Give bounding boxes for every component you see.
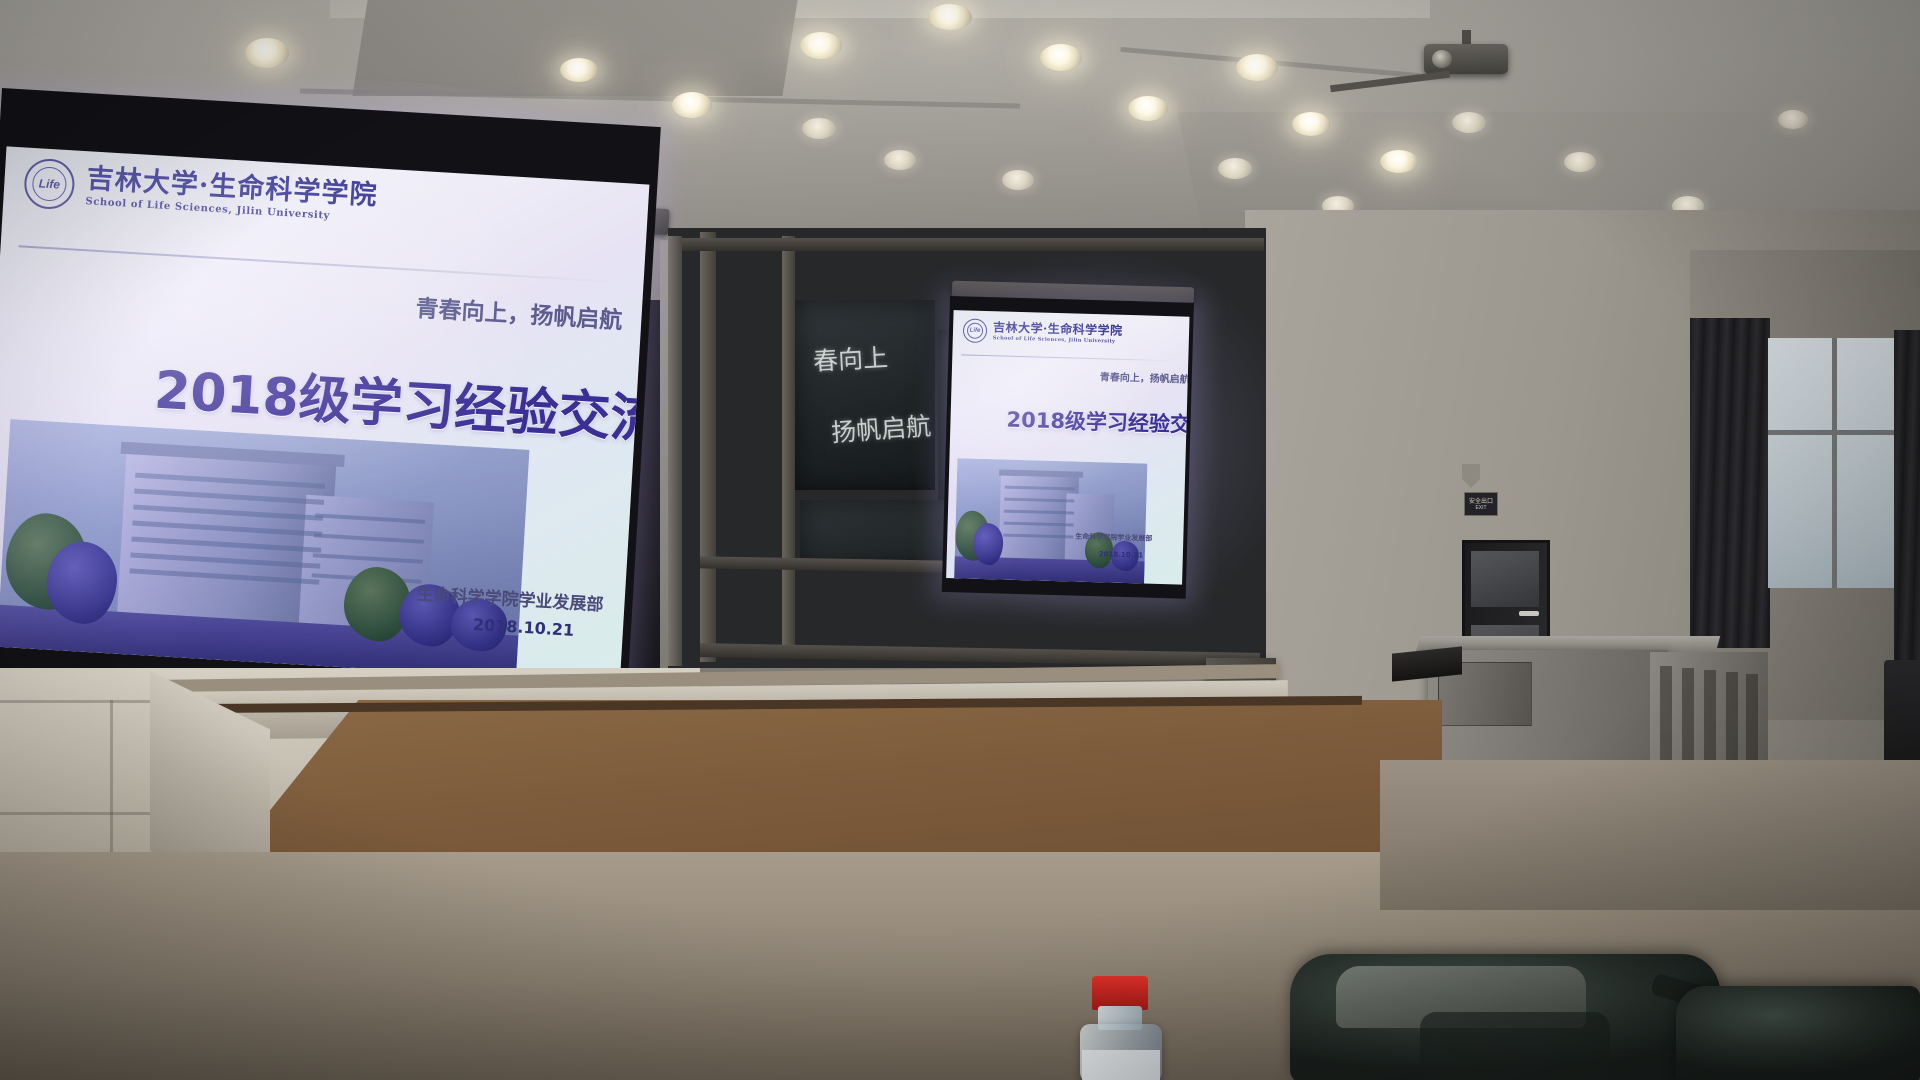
downlight-10 (1380, 150, 1418, 173)
projector-lens-icon (1432, 50, 1452, 68)
lecture-hall-photo: Life 吉林大学·生命科学学院 School of Life Sciences… (0, 0, 1920, 1080)
downlight-17 (1564, 152, 1596, 172)
slide-2-logo: Life 吉林大学·生命科学学院 School of Life Sciences… (963, 318, 1123, 346)
downlight-9 (1292, 112, 1330, 136)
blackboard-post-outer (668, 236, 682, 666)
slide-2: Life 吉林大学·生命科学学院 School of Life Sciences… (946, 310, 1189, 584)
bottle-cap (1092, 976, 1148, 1010)
floor-right (1380, 760, 1920, 910)
blackboard-panel-left: 春向上 扬帆启航 (795, 300, 935, 490)
chalk-line-2: 扬帆启航 (830, 407, 932, 450)
downlight-12 (884, 150, 916, 170)
slide-2-rule (961, 354, 1175, 361)
slide-1-logo: Life 吉林大学·生命科学学院 School of Life Sciences… (23, 158, 379, 229)
slide-2-building-photo (954, 458, 1147, 583)
downlight-8 (1128, 96, 1168, 121)
exit-sign-line1: 安全出口 (1465, 496, 1497, 505)
door-handle[interactable] (1519, 611, 1539, 616)
blackboard-post-2 (782, 236, 795, 656)
projection-screen-1-frame: Life 吉林大学·生命科学学院 School of Life Sciences… (0, 88, 661, 706)
downlight-3 (560, 58, 598, 82)
bottle-label (1082, 1050, 1160, 1080)
seal-text-2: Life (964, 327, 986, 334)
slide-2-footer-org: 生命科学学院学业发展部 (1075, 532, 1152, 544)
downlight-13 (1002, 170, 1034, 190)
jlu-life-seal-icon: Life (23, 158, 76, 211)
door-glass-upper (1471, 551, 1539, 607)
downlight-1 (245, 38, 289, 68)
downlight-16 (1452, 112, 1486, 133)
downlight-5 (928, 4, 972, 30)
slide-1: Life 吉林大学·生命科学学院 School of Life Sciences… (0, 146, 649, 683)
window (1768, 338, 1904, 588)
exit-sign: 安全出口 EXIT (1464, 492, 1498, 516)
curtain-left (1690, 318, 1770, 648)
backpack-pocket (1420, 1012, 1610, 1080)
jlu-life-seal-icon-2: Life (963, 318, 988, 343)
slide-1-building-photo (0, 419, 529, 677)
downlight-2 (672, 92, 712, 118)
chalk-line-1: 春向上 (812, 338, 889, 378)
slide-2-footer-date: 2018.10.21 (1099, 550, 1144, 559)
seal-text: Life (26, 176, 73, 193)
downlight-23 (1778, 110, 1808, 129)
curtain-right (1894, 330, 1920, 660)
projection-screen-2-frame: Life 吉林大学·生命科学学院 School of Life Sciences… (942, 296, 1194, 599)
downlight-7 (1236, 54, 1278, 81)
slide-1-rule (19, 245, 618, 283)
slide-2-title: 2018级学习经验交流会 (1006, 404, 1189, 440)
blackboard-post-1 (700, 232, 716, 662)
downlight-14 (1218, 158, 1252, 179)
exit-sign-line2: EXIT (1465, 505, 1497, 511)
downlight-4 (800, 32, 842, 59)
backpack-secondary (1676, 986, 1920, 1080)
slide-2-tagline: 青春向上，扬帆启航 (1100, 368, 1190, 386)
window-mullion-v (1832, 338, 1837, 588)
downlight-11 (802, 118, 836, 139)
downlight-6 (1040, 44, 1082, 71)
blackboard-rail-top (668, 238, 1264, 251)
slide-1-tagline: 青春向上，扬帆启航 (415, 289, 624, 335)
